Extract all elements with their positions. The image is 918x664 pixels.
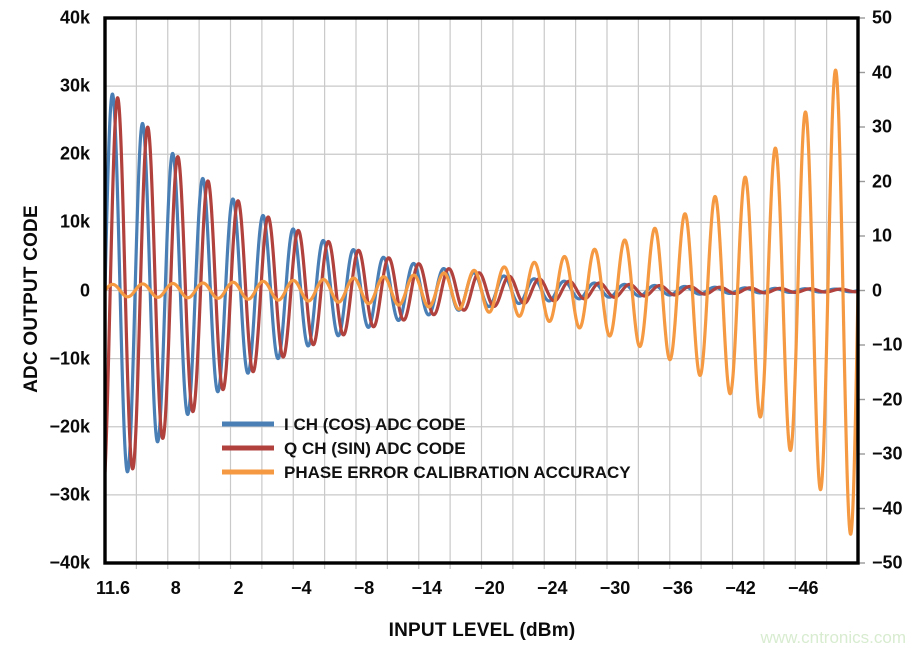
legend-label: I CH (COS) ADC CODE — [284, 415, 466, 434]
legend-label: Q CH (SIN) ADC CODE — [284, 439, 466, 458]
legend-label: PHASE ERROR CALIBRATION ACCURACY — [284, 463, 631, 482]
chart-figure: ADC OUTPUT CODE INPUT LEVEL (dBm) 40k30k… — [0, 0, 918, 664]
site-watermark: www.cntronics.com — [761, 628, 906, 648]
plot-area: I CH (COS) ADC CODEQ CH (SIN) ADC CODEPH… — [0, 0, 918, 664]
